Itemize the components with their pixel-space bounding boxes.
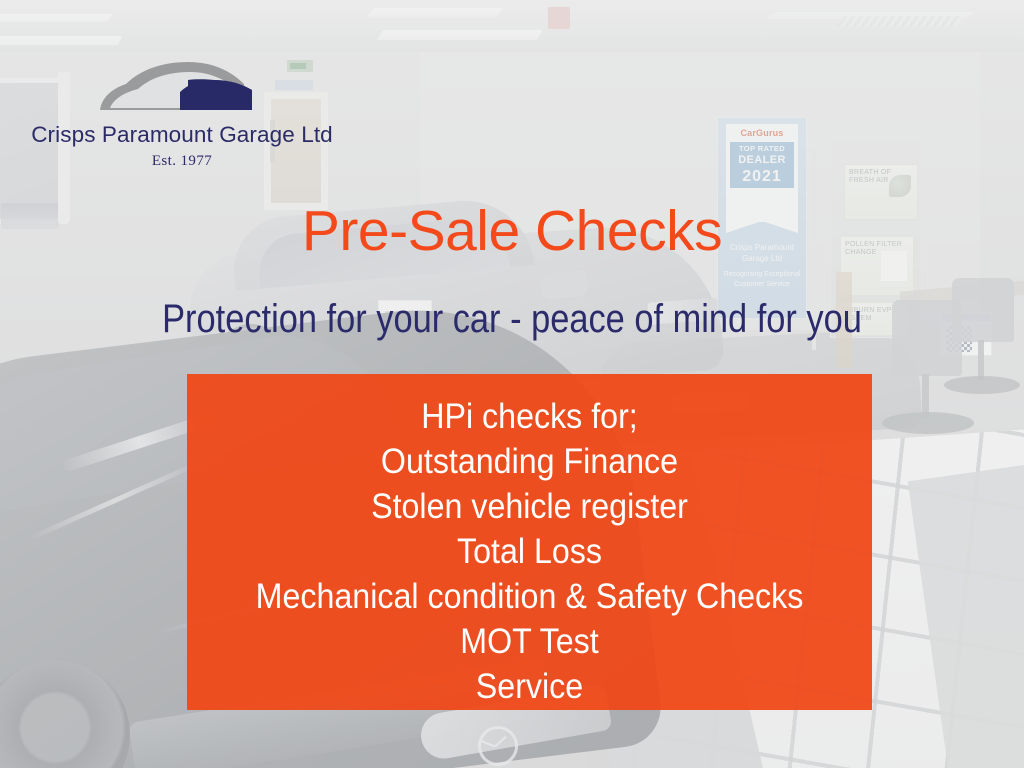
banner-award-line2: DEALER [730,154,794,166]
car-wing-mirror [539,270,589,301]
list-item: HPi checks for; [214,394,844,439]
banner-award-line1: TOP RATED [730,144,794,153]
ceiling-light-icon [377,30,543,40]
office-chair [952,278,1014,342]
company-logo: Crisps Paramount Garage Ltd Est. 1977 [22,56,342,170]
leaf-icon [889,175,911,197]
list-item: Stolen vehicle register [214,484,844,529]
list-item: Total Loss [214,529,844,574]
ceiling-light-icon [0,36,122,45]
established-text: Est. 1977 [22,153,342,170]
ceiling-light-icon [0,14,113,22]
list-item: Mechanical condition & Safety Checks [214,574,844,619]
checks-panel: HPi checks for; Outstanding Finance Stol… [187,374,872,710]
banner-brand: CarGurus [726,128,798,138]
chair-stem [978,340,984,380]
company-name: Crisps Paramount Garage Ltd [22,122,342,148]
page-subtitle: Protection for your car - peace of mind … [72,299,953,339]
chair-base [944,376,1020,394]
showroom-ceiling [0,0,1024,52]
list-item: Service [214,664,844,709]
ceiling-red-fixture [548,7,570,29]
banner-award-year: 2021 [730,168,794,186]
page-title: Pre-Sale Checks [0,203,1024,260]
list-item: Outstanding Finance [214,439,844,484]
checks-list: HPi checks for; Outstanding Finance Stol… [187,394,872,709]
list-item: MOT Test [214,619,844,664]
car-silhouette-icon [92,56,272,118]
ceiling-vent [836,16,963,26]
slide-canvas: CarGurus TOP RATED DEALER 2021 Crisps Pa… [0,0,1024,768]
banner-strapline: Recognising ExceptionalCustomer Service [722,270,802,290]
chair-base [882,412,974,434]
ceiling-light-icon [366,8,504,17]
